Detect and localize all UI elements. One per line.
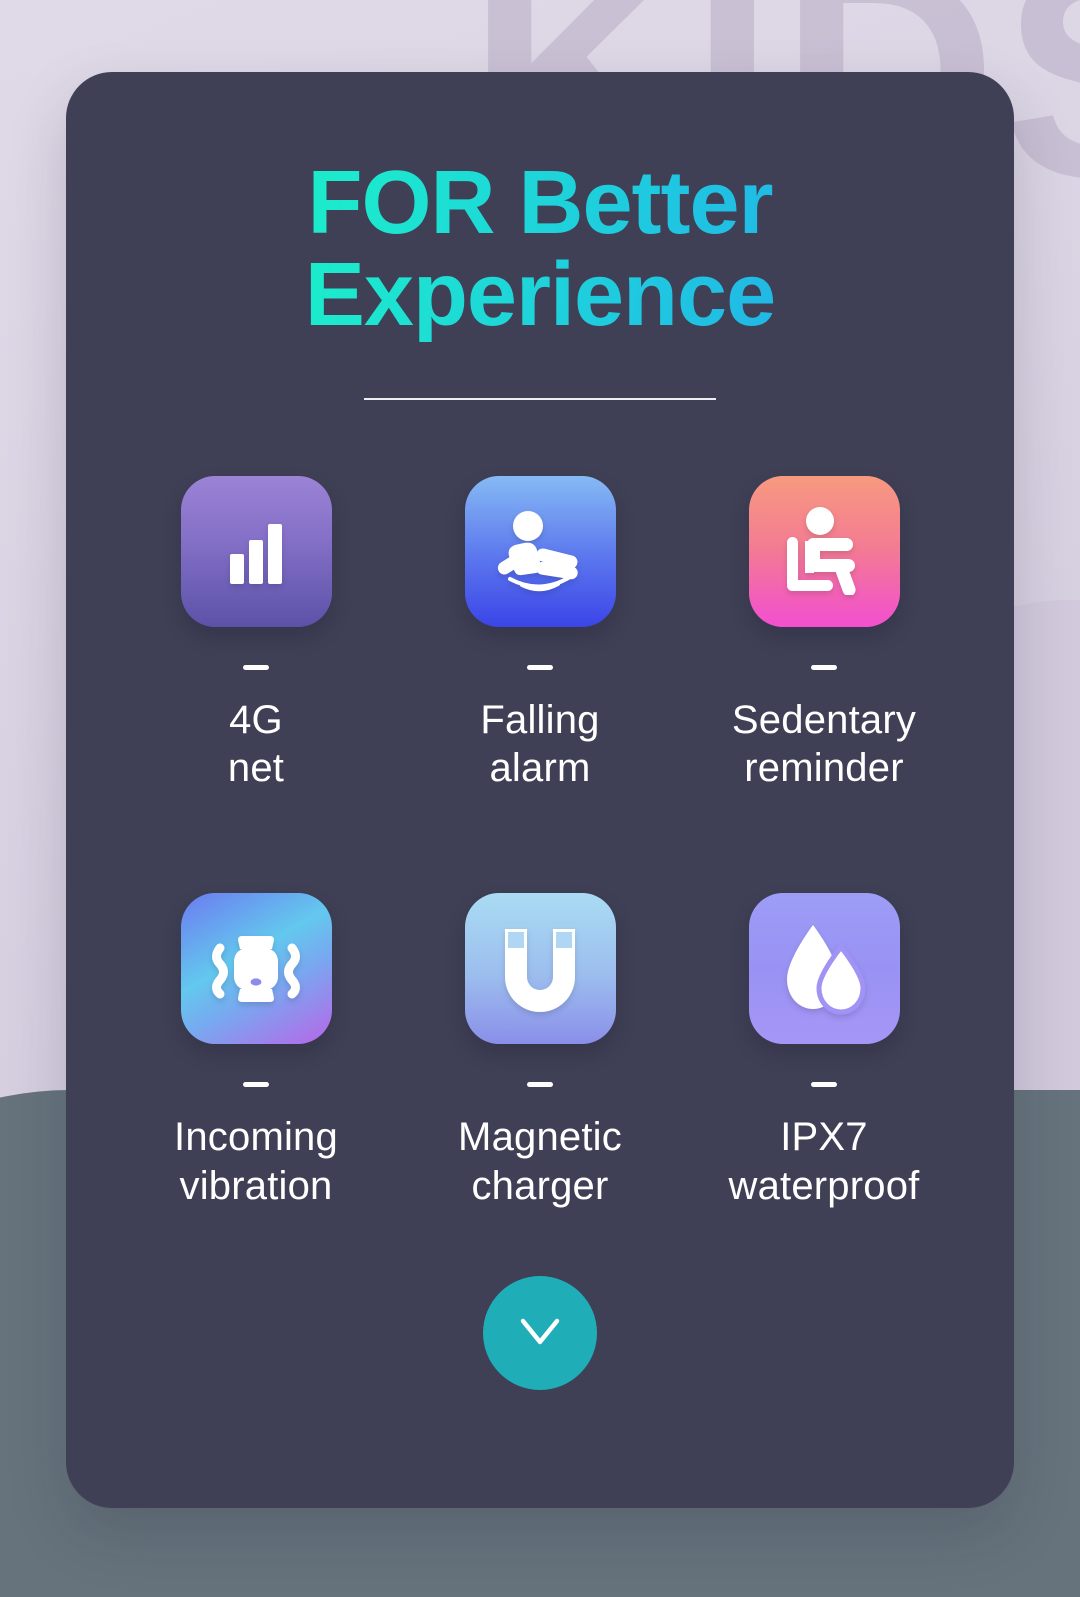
feature-label: Sedentary reminder — [732, 696, 916, 794]
feature-item-magnetic-charger[interactable]: Magnetic charger — [398, 893, 682, 1211]
water-droplets-icon — [781, 923, 867, 1015]
feature-item-4g-net[interactable]: 4G net — [114, 476, 398, 794]
feature-dash — [527, 665, 553, 670]
feature-dash — [243, 665, 269, 670]
feature-item-ipx7-waterproof[interactable]: IPX7 waterproof — [682, 893, 966, 1211]
signal-bars-icon — [219, 514, 293, 588]
horseshoe-magnet-icon — [499, 923, 581, 1015]
feature-label: Incoming vibration — [174, 1113, 338, 1211]
feature-item-sedentary-reminder[interactable]: Sedentary reminder — [682, 476, 966, 794]
chevron-down-icon — [517, 1315, 563, 1352]
feature-label: 4G net — [228, 696, 284, 794]
feature-item-incoming-vibration[interactable]: Incoming vibration — [114, 893, 398, 1211]
person-falling-icon — [494, 509, 586, 593]
feature-label: Falling alarm — [480, 696, 599, 794]
feature-dash — [811, 665, 837, 670]
feature-item-falling-alarm[interactable]: Falling alarm — [398, 476, 682, 794]
feature-dash — [527, 1082, 553, 1087]
feature-icon-tile[interactable] — [181, 893, 332, 1044]
feature-icon-tile[interactable] — [465, 476, 616, 627]
scroll-down-button[interactable] — [483, 1276, 597, 1390]
feature-icon-tile[interactable] — [749, 476, 900, 627]
page-title: FOR Better Experience — [136, 158, 944, 342]
feature-grid-row-1: 4G net Falling alarm — [114, 476, 966, 794]
feature-dash — [811, 1082, 837, 1087]
feature-icon-tile[interactable] — [181, 476, 332, 627]
feature-label: Magnetic charger — [458, 1113, 622, 1211]
watch-vibration-icon — [203, 920, 309, 1018]
title-divider — [364, 398, 716, 400]
feature-card: FOR Better Experience 4G net — [66, 72, 1014, 1508]
feature-dash — [243, 1082, 269, 1087]
feature-grid-row-2: Incoming vibration Magnetic charger — [114, 893, 966, 1211]
feature-icon-tile[interactable] — [749, 893, 900, 1044]
person-sitting-icon — [781, 507, 867, 595]
feature-label: IPX7 waterproof — [729, 1113, 920, 1211]
feature-icon-tile[interactable] — [465, 893, 616, 1044]
